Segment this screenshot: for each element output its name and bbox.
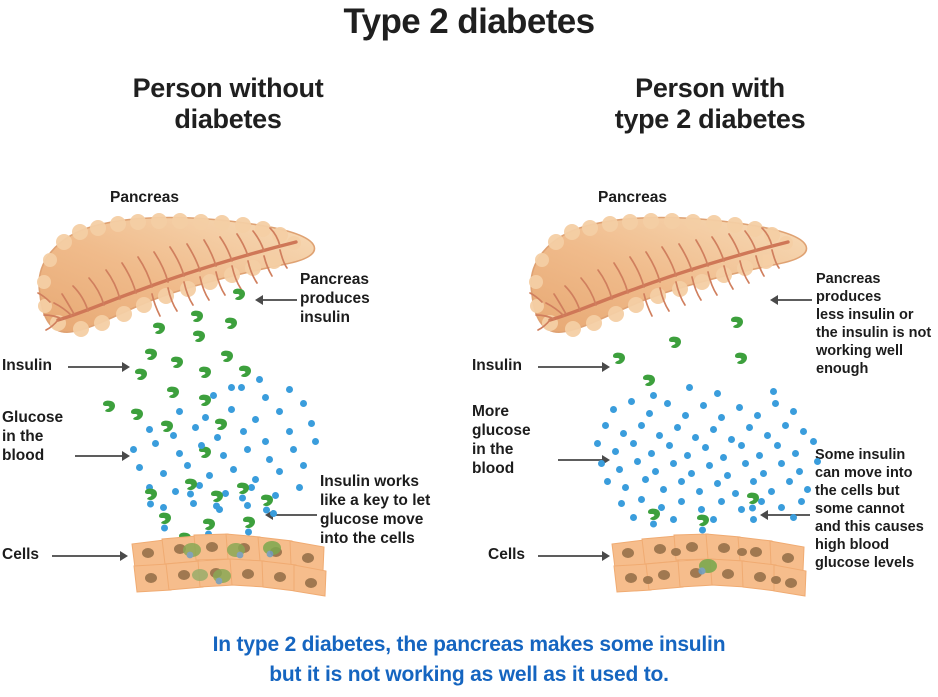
cell-block-left xyxy=(130,528,330,600)
insulin-glucose-pair xyxy=(258,494,275,516)
insulin-glucose-pair xyxy=(645,508,662,530)
insulin-glucose-pair xyxy=(142,488,159,510)
insulin-glucose-pair xyxy=(234,482,251,504)
panel-without-diabetes: Pancreas xyxy=(0,170,470,620)
insulin-glucose-pair xyxy=(182,478,199,500)
cell-block-right xyxy=(610,528,810,600)
bottom-caption: In type 2 diabetes, the pancreas makes s… xyxy=(0,630,938,690)
insulin-glucose-pair xyxy=(208,490,225,512)
panel-title-right: Person with type 2 diabetes xyxy=(500,73,920,135)
panel-title-left: Person without diabetes xyxy=(18,73,438,135)
insulin-glucose-pair xyxy=(744,492,761,514)
panel-with-type-2-diabetes: Pancreas xyxy=(470,170,938,620)
page-title: Type 2 diabetes xyxy=(0,0,938,44)
